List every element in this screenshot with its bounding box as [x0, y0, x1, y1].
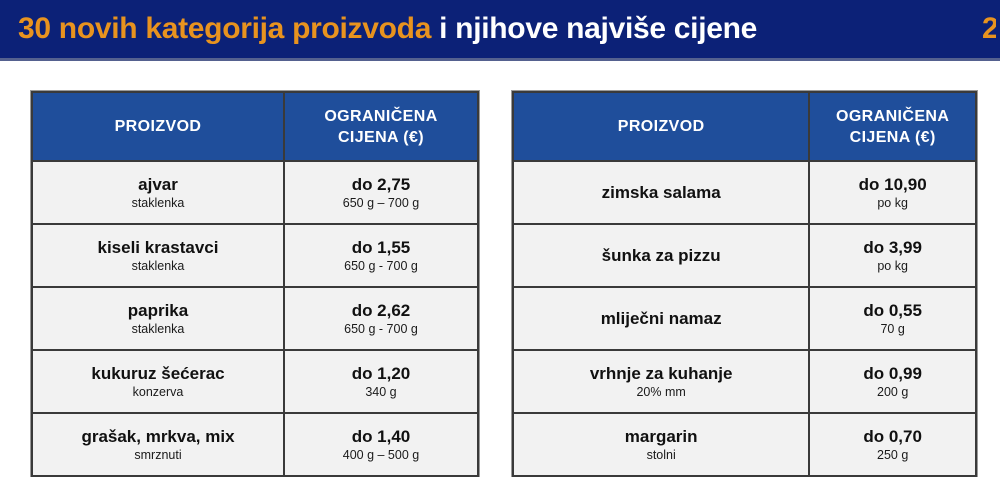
- price-table-right: PROIZVOD OGRANIČENA CIJENA (€) zimska sa…: [512, 91, 977, 477]
- product-name: paprika: [33, 300, 283, 321]
- price-value: do 2,75: [285, 174, 477, 195]
- product-subtitle: smrznuti: [33, 447, 283, 464]
- price-subtitle: 650 g - 700 g: [285, 258, 477, 275]
- product-subtitle: staklenka: [33, 321, 283, 338]
- price-subtitle: 70 g: [810, 321, 975, 338]
- table-row: mliječni namaz do 0,55 70 g: [513, 287, 976, 350]
- table-row: kukuruz šećerac konzerva do 1,20 340 g: [32, 350, 478, 413]
- table-row: margarin stolni do 0,70 250 g: [513, 413, 976, 476]
- slide-number: 2: [982, 7, 996, 51]
- column-header-product-label: PROIZVOD: [33, 116, 283, 137]
- product-cell: margarin stolni: [513, 413, 809, 476]
- table-row: zimska salama do 10,90 po kg: [513, 161, 976, 224]
- table-row: kiseli krastavci staklenka do 1,55 650 g…: [32, 224, 478, 287]
- product-cell: kiseli krastavci staklenka: [32, 224, 284, 287]
- price-cell: do 0,70 250 g: [809, 413, 976, 476]
- price-value: do 1,20: [285, 363, 477, 384]
- price-value: do 0,70: [810, 426, 975, 447]
- price-value: do 2,62: [285, 300, 477, 321]
- column-header-price-line2: CIJENA (€): [285, 127, 477, 148]
- product-name: grašak, mrkva, mix: [33, 426, 283, 447]
- product-cell: ajvar staklenka: [32, 161, 284, 224]
- price-subtitle: po kg: [810, 195, 975, 212]
- price-subtitle: 200 g: [810, 384, 975, 401]
- table-header-row: PROIZVOD OGRANIČENA CIJENA (€): [513, 92, 976, 161]
- price-cell: do 0,99 200 g: [809, 350, 976, 413]
- price-table-left: PROIZVOD OGRANIČENA CIJENA (€) ajvar sta…: [31, 91, 479, 477]
- slide-canvas: 30 novih kategorija proizvoda i njihove …: [0, 0, 1000, 465]
- product-cell: zimska salama: [513, 161, 809, 224]
- table-row: paprika staklenka do 2,62 650 g - 700 g: [32, 287, 478, 350]
- table-row: grašak, mrkva, mix smrznuti do 1,40 400 …: [32, 413, 478, 476]
- product-subtitle: stolni: [514, 447, 808, 464]
- product-name: margarin: [514, 426, 808, 447]
- price-value: do 0,99: [810, 363, 975, 384]
- column-header-product: PROIZVOD: [513, 92, 809, 161]
- price-cell: do 10,90 po kg: [809, 161, 976, 224]
- price-subtitle: 340 g: [285, 384, 477, 401]
- column-header-product-label: PROIZVOD: [514, 116, 808, 137]
- price-cell: do 0,55 70 g: [809, 287, 976, 350]
- product-name: vrhnje za kuhanje: [514, 363, 808, 384]
- product-cell: grašak, mrkva, mix smrznuti: [32, 413, 284, 476]
- price-subtitle: po kg: [810, 258, 975, 275]
- product-cell: mliječni namaz: [513, 287, 809, 350]
- product-cell: paprika staklenka: [32, 287, 284, 350]
- price-cell: do 1,55 650 g - 700 g: [284, 224, 478, 287]
- column-header-price-line2: CIJENA (€): [810, 127, 975, 148]
- title-bar: 30 novih kategorija proizvoda i njihove …: [0, 0, 1000, 58]
- product-subtitle: staklenka: [33, 258, 283, 275]
- price-value: do 1,40: [285, 426, 477, 447]
- column-header-price-line1: OGRANIČENA: [810, 106, 975, 127]
- price-subtitle: 400 g – 500 g: [285, 447, 477, 464]
- product-cell: šunka za pizzu: [513, 224, 809, 287]
- price-cell: do 1,40 400 g – 500 g: [284, 413, 478, 476]
- product-subtitle: konzerva: [33, 384, 283, 401]
- product-name: kukuruz šećerac: [33, 363, 283, 384]
- product-name: mliječni namaz: [514, 308, 808, 329]
- price-value: do 1,55: [285, 237, 477, 258]
- column-header-price: OGRANIČENA CIJENA (€): [284, 92, 478, 161]
- price-value: do 3,99: [810, 237, 975, 258]
- price-subtitle: 650 g - 700 g: [285, 321, 477, 338]
- title-bar-underline: [0, 58, 1000, 61]
- table-row: šunka za pizzu do 3,99 po kg: [513, 224, 976, 287]
- page-title-plain: i njihove najviše cijene: [431, 12, 757, 45]
- price-value: do 10,90: [810, 174, 975, 195]
- price-subtitle: 650 g – 700 g: [285, 195, 477, 212]
- product-cell: kukuruz šećerac konzerva: [32, 350, 284, 413]
- product-name: šunka za pizzu: [514, 245, 808, 266]
- product-cell: vrhnje za kuhanje 20% mm: [513, 350, 809, 413]
- table-row: ajvar staklenka do 2,75 650 g – 700 g: [32, 161, 478, 224]
- table-row: vrhnje za kuhanje 20% mm do 0,99 200 g: [513, 350, 976, 413]
- price-value: do 0,55: [810, 300, 975, 321]
- product-subtitle: 20% mm: [514, 384, 808, 401]
- page-title-accent: 30 novih kategorija proizvoda: [18, 12, 431, 45]
- price-cell: do 2,75 650 g – 700 g: [284, 161, 478, 224]
- price-cell: do 3,99 po kg: [809, 224, 976, 287]
- product-name: kiseli krastavci: [33, 237, 283, 258]
- column-header-price-line1: OGRANIČENA: [285, 106, 477, 127]
- price-subtitle: 250 g: [810, 447, 975, 464]
- price-cell: do 2,62 650 g - 700 g: [284, 287, 478, 350]
- column-header-product: PROIZVOD: [32, 92, 284, 161]
- column-header-price: OGRANIČENA CIJENA (€): [809, 92, 976, 161]
- product-name: zimska salama: [514, 182, 808, 203]
- table-header-row: PROIZVOD OGRANIČENA CIJENA (€): [32, 92, 478, 161]
- product-subtitle: staklenka: [33, 195, 283, 212]
- price-cell: do 1,20 340 g: [284, 350, 478, 413]
- page-title: 30 novih kategorija proizvoda i njihove …: [18, 7, 757, 51]
- product-name: ajvar: [33, 174, 283, 195]
